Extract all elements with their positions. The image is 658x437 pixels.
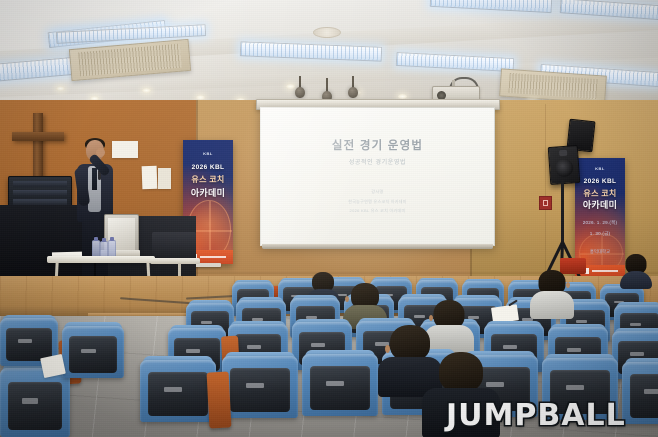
screen-glare <box>260 107 495 246</box>
seat-number-tag <box>644 389 658 394</box>
banner-logo: KBL <box>183 151 233 156</box>
attendee <box>530 270 574 316</box>
amp-unit <box>13 190 67 196</box>
banner-logo: KBL <box>575 166 625 171</box>
attendee-head <box>439 352 483 392</box>
projection-screen: 실전 경기 운영법 성공적인 경기운영법 강사명 한국농구연맹 유스코치 아카데… <box>260 107 495 246</box>
banner-line-2: 유스 코치 <box>183 174 233 185</box>
stage-hook <box>326 78 328 94</box>
equipment-cart <box>152 232 196 260</box>
ac-grille <box>508 73 597 99</box>
seat-back-panel <box>630 374 658 417</box>
slide-footer-line-2: 한국농구연맹 유스코치 아카데미 <box>260 199 495 205</box>
banner-date-line-2: 1. 30.(금) <box>575 231 625 237</box>
seat-back-panel <box>8 382 63 430</box>
presenter-table <box>47 256 155 263</box>
banner-line-3: 아카데미 <box>183 186 233 199</box>
ac-grille <box>78 44 182 77</box>
slide-footer-line-3: 2026 KBL 유스 코치 아카데미 <box>260 208 495 214</box>
attendee-ear <box>429 315 433 321</box>
jumpball-watermark: JUMPBALL <box>446 398 626 433</box>
banner-venue-name: 홍익대학교 <box>575 249 625 255</box>
banner-line-3: 아카데미 <box>575 198 625 211</box>
seat-number-tag <box>201 321 212 324</box>
seat-number-tag <box>630 323 642 326</box>
amp-unit <box>13 181 67 187</box>
auditorium-seat[interactable] <box>622 362 658 424</box>
ceiling-downlight <box>142 88 151 93</box>
slide-title: 실전 경기 운영법 <box>260 137 495 153</box>
speaker-tweeter <box>559 150 567 157</box>
seat-number-tag <box>18 339 32 343</box>
bottle-cap <box>110 237 114 241</box>
stage-hook <box>299 76 301 90</box>
projection-screen-weight-bar <box>262 244 493 249</box>
speaker-woofer <box>555 158 574 177</box>
banner-sponsor-text <box>200 256 226 258</box>
attendee-sweater <box>530 291 574 319</box>
pa-speaker <box>548 145 581 185</box>
seat-number-tag <box>311 343 325 347</box>
attendee-ear <box>385 345 390 353</box>
seat-back-panel <box>69 336 117 372</box>
lecture-hall-photo: 실전 경기 운영법 성공적인 경기운영법 강사명 한국농구연맹 유스코치 아카데… <box>0 0 658 437</box>
seat-number-tag <box>246 383 264 388</box>
ceiling-vent <box>313 27 341 38</box>
seat-number-tag <box>326 381 344 386</box>
stage-hook-weight <box>295 87 305 98</box>
cross-horizontal-bar <box>12 132 64 141</box>
attendee <box>620 254 652 286</box>
seat-number-tag <box>566 385 584 390</box>
ceiling-downlight <box>56 86 65 91</box>
ceiling-downlight <box>286 84 295 89</box>
seat-back-panel <box>148 372 207 415</box>
auditorium-seat[interactable] <box>140 360 216 422</box>
emergency-exit-sign <box>539 196 552 210</box>
seat-number-tag <box>22 398 38 403</box>
tripod-pole <box>561 180 564 246</box>
wall-seam <box>545 104 546 274</box>
wall-notice-paper <box>142 166 158 190</box>
seat-back-panel <box>230 368 289 411</box>
auditorium-seat[interactable] <box>0 368 70 437</box>
stage-hook <box>352 76 354 90</box>
seat-back-panel <box>6 328 51 362</box>
slide-footer-line-1: 강사명 <box>260 189 495 195</box>
seat-number-tag <box>164 387 182 392</box>
seat-number-tag <box>247 345 261 349</box>
bottle-cap <box>94 237 98 241</box>
attendee-shoulders <box>620 271 652 289</box>
auditorium-seat[interactable] <box>62 326 124 378</box>
seat-number-tag <box>567 348 581 352</box>
seat-number-tag <box>81 349 96 353</box>
seat-number-tag <box>630 352 644 356</box>
seat-number-tag <box>503 345 517 349</box>
bottle-cap <box>102 238 106 242</box>
presenter-tie <box>92 168 97 190</box>
auditorium-seat[interactable] <box>222 356 298 418</box>
seat-armrest <box>207 371 232 428</box>
presenter-hand <box>96 148 105 157</box>
auditorium-seat[interactable] <box>302 354 378 416</box>
banner-sponsor-text <box>592 270 618 272</box>
side-table <box>150 258 200 264</box>
banner-line-1: 2026 KBL <box>183 164 233 171</box>
seat-back-panel <box>310 366 369 409</box>
seat-number-tag <box>186 349 200 353</box>
seat-number-tag <box>576 320 588 323</box>
banner-date-line-1: 2026. 1. 29.(목) <box>575 220 625 226</box>
banner-line-1: 2026 KBL <box>575 178 625 185</box>
stage-hook-weight <box>348 87 358 98</box>
attendee-ear <box>566 282 570 288</box>
slide-subtitle: 성공적인 경기운영법 <box>260 157 495 166</box>
attendee-ear <box>345 296 349 302</box>
wall-notice-paper <box>158 168 171 189</box>
